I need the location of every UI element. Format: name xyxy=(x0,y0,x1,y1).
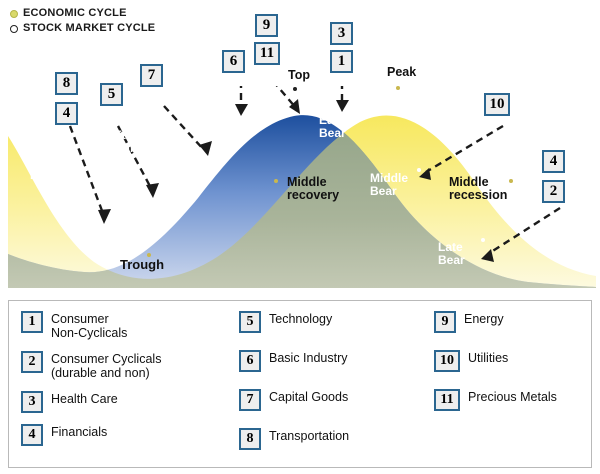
chart-label-middle-bear: Middle Bear xyxy=(370,172,408,197)
top-marker-icon xyxy=(293,87,297,91)
sector-number-6: 6 xyxy=(239,350,261,372)
sector-label-1: Consumer Non-Cyclicals xyxy=(51,311,127,340)
trough-marker-icon xyxy=(147,253,151,257)
sector-index-column-2: 5 Technology 6 Basic Industry 7 Capital … xyxy=(239,311,424,467)
list-item[interactable]: 4 Financials xyxy=(21,424,221,446)
chart-label-late-bear: Late Bear xyxy=(438,241,465,266)
sector-number-9: 9 xyxy=(434,311,456,333)
legend-row-economic-cycle: ECONOMIC CYCLE xyxy=(10,6,155,21)
sector-number-3: 3 xyxy=(21,391,43,413)
legend-label-economic-cycle: ECONOMIC CYCLE xyxy=(23,6,127,21)
chart-label-middle-recession: Middle recession xyxy=(449,176,507,201)
bottom-marker-icon xyxy=(48,160,52,164)
sector-label-4: Financials xyxy=(51,424,107,439)
cycle-chart: Bottom Early Bull Middle Bull Late Bull … xyxy=(8,86,596,288)
sector-index-column-1: 1 Consumer Non-Cyclicals 2 Consumer Cycl… xyxy=(21,311,221,457)
callout-box-8[interactable]: 8 xyxy=(55,72,78,95)
callout-box-3[interactable]: 3 xyxy=(330,22,353,45)
sector-number-1: 1 xyxy=(21,311,43,333)
infographic-root: ECONOMIC CYCLE STOCK MARKET CYCLE xyxy=(0,0,600,474)
economic-cycle-dot-icon xyxy=(10,10,18,18)
callout-box-11[interactable]: 11 xyxy=(254,42,280,65)
chart-label-bottom: Bottom xyxy=(30,169,72,182)
sector-index-panel: 1 Consumer Non-Cyclicals 2 Consumer Cycl… xyxy=(8,300,592,468)
sector-label-10: Utilities xyxy=(468,350,508,365)
callout-box-10[interactable]: 10 xyxy=(484,93,510,116)
early-bull-marker-icon xyxy=(106,133,110,137)
peak-marker-icon xyxy=(396,86,400,90)
sector-label-2: Consumer Cyclicals (durable and non) xyxy=(51,351,161,380)
chart-label-early-bull: Early Bull xyxy=(114,129,143,154)
list-item[interactable]: 7 Capital Goods xyxy=(239,389,424,411)
cycle-legend: ECONOMIC CYCLE STOCK MARKET CYCLE xyxy=(10,6,155,36)
early-bear-marker-icon xyxy=(364,112,368,116)
list-item[interactable]: 2 Consumer Cyclicals (durable and non) xyxy=(21,351,221,380)
chart-label-peak: Peak xyxy=(387,66,416,79)
sector-number-10: 10 xyxy=(434,350,460,372)
sector-number-5: 5 xyxy=(239,311,261,333)
chart-label-trough: Trough xyxy=(120,259,164,272)
callout-box-1[interactable]: 1 xyxy=(330,50,353,73)
callout-box-2-right[interactable]: 2 xyxy=(542,180,565,203)
legend-label-stock-market-cycle: STOCK MARKET CYCLE xyxy=(23,21,155,36)
stock-market-cycle-circle-icon xyxy=(10,25,18,33)
callout-box-4-left[interactable]: 4 xyxy=(55,102,78,125)
chart-label-top: Top xyxy=(288,69,310,82)
list-item[interactable]: 10 Utilities xyxy=(434,350,594,372)
sector-label-8: Transportation xyxy=(269,428,349,443)
sector-number-11: 11 xyxy=(434,389,460,411)
sector-index-column-3: 9 Energy 10 Utilities 11 Precious Metals xyxy=(434,311,594,428)
chart-label-middle-bull: Middle Bull xyxy=(184,86,222,110)
sector-number-7: 7 xyxy=(239,389,261,411)
sector-label-9: Energy xyxy=(464,311,504,326)
list-item[interactable]: 3 Health Care xyxy=(21,391,221,413)
arrow-7 xyxy=(164,106,204,150)
sector-number-2: 2 xyxy=(21,351,43,373)
middle-recovery-marker-icon xyxy=(274,179,278,183)
list-item[interactable]: 8 Transportation xyxy=(239,428,424,450)
sector-number-4: 4 xyxy=(21,424,43,446)
callout-box-7[interactable]: 7 xyxy=(140,64,163,87)
callout-box-6[interactable]: 6 xyxy=(222,50,245,73)
callout-box-9[interactable]: 9 xyxy=(255,14,278,37)
middle-bull-marker-icon xyxy=(175,89,179,93)
callout-box-4-right[interactable]: 4 xyxy=(542,150,565,173)
late-bear-marker-icon xyxy=(481,238,485,242)
sector-label-11: Precious Metals xyxy=(468,389,557,404)
chart-label-early-bear: Early Bear xyxy=(319,114,348,139)
list-item[interactable]: 6 Basic Industry xyxy=(239,350,424,372)
middle-bear-marker-icon xyxy=(417,168,421,172)
sector-number-8: 8 xyxy=(239,428,261,450)
list-item[interactable]: 5 Technology xyxy=(239,311,424,333)
sector-label-3: Health Care xyxy=(51,391,118,406)
sector-label-6: Basic Industry xyxy=(269,350,348,365)
list-item[interactable]: 1 Consumer Non-Cyclicals xyxy=(21,311,221,340)
list-item[interactable]: 9 Energy xyxy=(434,311,594,333)
sector-label-7: Capital Goods xyxy=(269,389,348,404)
callout-box-5[interactable]: 5 xyxy=(100,83,123,106)
chart-label-middle-recovery: Middle recovery xyxy=(287,176,339,201)
sector-label-5: Technology xyxy=(269,311,332,326)
legend-row-stock-market-cycle: STOCK MARKET CYCLE xyxy=(10,21,155,36)
arrow-8-4 xyxy=(70,126,104,216)
middle-recession-marker-icon xyxy=(509,179,513,183)
list-item[interactable]: 11 Precious Metals xyxy=(434,389,594,411)
